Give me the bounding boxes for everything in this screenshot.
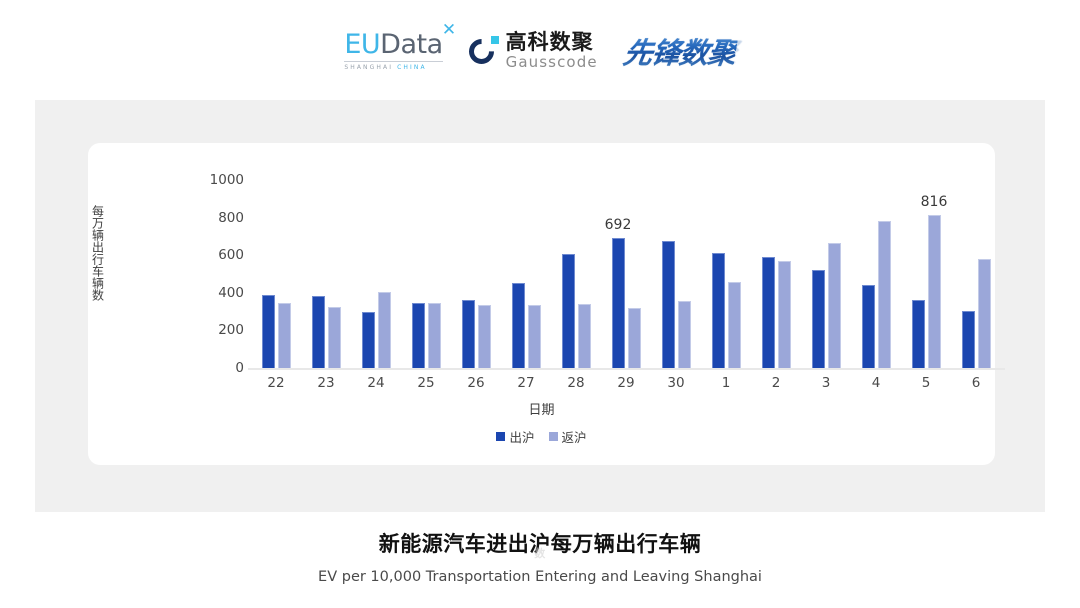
evdata-tagline: SHANGHAI CHINA (344, 61, 442, 71)
plot-area: 692816 (251, 180, 1001, 368)
evdata-logo: EUData✕ SHANGHAI CHINA (344, 31, 442, 71)
bar-value-label: 692 (605, 217, 632, 233)
bar-group (301, 180, 351, 368)
x-tick-label: 3 (801, 375, 851, 391)
slide-root: EUData✕ SHANGHAI CHINA 高科数聚 Gausscode 先锋… (0, 0, 1080, 608)
bar-out (512, 283, 525, 368)
x-tick-label: 25 (401, 375, 451, 391)
bar-group (551, 180, 601, 368)
bar-out (312, 296, 325, 368)
bar-chart: 02004006008001000 692816 222324252627282… (88, 143, 995, 465)
gausscode-logo: 高科数聚 Gausscode (469, 32, 598, 70)
bar-group (451, 180, 501, 368)
bar-out (712, 253, 725, 368)
x-tick-label: 4 (851, 375, 901, 391)
bar-group (651, 180, 701, 368)
bar-group (701, 180, 751, 368)
x-tick-label: 23 (301, 375, 351, 391)
bar-return (428, 303, 441, 368)
bar-out (862, 285, 875, 368)
gausscode-name-en: Gausscode (506, 55, 598, 70)
chart-title-cn: 新能源汽车进出沪每万辆出行车辆 数 (0, 528, 1080, 558)
footer: 新能源汽车进出沪每万辆出行车辆 数 EV per 10,000 Transpor… (0, 528, 1080, 585)
evdata-wordmark: EUData✕ (344, 31, 442, 58)
x-tick-label: 24 (351, 375, 401, 391)
x-tick-label: 29 (601, 375, 651, 391)
bar-return (828, 243, 841, 368)
gausscode-text: 高科数聚 Gausscode (506, 32, 598, 70)
bar-group: 692 (601, 180, 651, 368)
y-tick-label: 800 (198, 210, 244, 226)
y-axis-title: 每万辆出行车辆数 (88, 168, 108, 338)
bar-return (978, 259, 991, 368)
bar-group (501, 180, 551, 368)
bar-out (562, 254, 575, 368)
x-mark-icon: ✕ (442, 22, 456, 39)
bar-group (751, 180, 801, 368)
gausscode-name-cn: 高科数聚 (506, 32, 598, 53)
chart-legend: 出沪返沪 (88, 427, 995, 446)
bar-out: 692 (612, 238, 625, 368)
bar-group (851, 180, 901, 368)
y-tick-label: 1000 (198, 172, 244, 188)
x-tick-label: 30 (651, 375, 701, 391)
bar-group (351, 180, 401, 368)
bar-return (878, 221, 891, 368)
x-tick-label: 5 (901, 375, 951, 391)
bar-out (912, 300, 925, 368)
gausscode-square-icon (491, 36, 499, 44)
legend-item[interactable]: 出沪 (496, 427, 534, 446)
chart-title-cn-text: 新能源汽车进出沪每万辆出行车辆 (379, 533, 702, 556)
xianfeng-name-cn: 先锋数聚 (620, 30, 739, 72)
chart-subtitle-en: EV per 10,000 Transportation Entering an… (0, 569, 1080, 585)
y-tick-label: 200 (198, 322, 244, 338)
bar-out (362, 312, 375, 368)
evdata-word-data: Data (380, 29, 442, 60)
x-tick-label: 27 (501, 375, 551, 391)
evdata-letter-v: U (361, 29, 380, 60)
bar-return (328, 307, 341, 368)
bar-return (778, 261, 791, 368)
x-tick-label: 1 (701, 375, 751, 391)
x-tick-label: 2 (751, 375, 801, 391)
bar-group (951, 180, 1001, 368)
bar-out (462, 300, 475, 368)
logo-row: EUData✕ SHANGHAI CHINA 高科数聚 Gausscode 先锋… (0, 22, 1080, 80)
bar-group (251, 180, 301, 368)
x-tick-label: 22 (251, 375, 301, 391)
bar-return (378, 292, 391, 368)
x-tick-label: 28 (551, 375, 601, 391)
bar-return (678, 301, 691, 368)
bar-return (728, 282, 741, 368)
bar-group: 816 (901, 180, 951, 368)
bar-return (278, 303, 291, 368)
bar-out (412, 303, 425, 368)
x-tick-label: 26 (451, 375, 501, 391)
bar-out (812, 270, 825, 368)
bar-group (801, 180, 851, 368)
bar-out (262, 295, 275, 368)
y-tick-label: 0 (198, 360, 244, 376)
xianfeng-logo: 先锋数聚 (624, 30, 736, 72)
bar-return (628, 308, 641, 368)
x-axis-line (248, 368, 1005, 370)
y-tick-label: 400 (198, 285, 244, 301)
gausscode-mark-icon (469, 36, 499, 66)
bar-out (762, 257, 775, 368)
bar-return (578, 304, 591, 368)
x-tick-label: 6 (951, 375, 1001, 391)
bar-out (962, 311, 975, 368)
legend-swatch-icon (549, 432, 558, 441)
legend-label: 返沪 (562, 427, 587, 446)
bar-value-label: 816 (921, 194, 948, 210)
bar-return: 816 (928, 215, 941, 368)
bar-out (662, 241, 675, 368)
bar-return (528, 305, 541, 368)
bar-group (401, 180, 451, 368)
y-tick-label: 600 (198, 247, 244, 263)
legend-item[interactable]: 返沪 (549, 427, 587, 446)
evdata-letter-e: E (344, 29, 361, 60)
bar-return (478, 305, 491, 368)
legend-swatch-icon (496, 432, 505, 441)
evdata-tagline-shanghai: SHANGHAI (344, 64, 393, 71)
evdata-tagline-china: CHINA (397, 64, 427, 71)
legend-label: 出沪 (509, 427, 534, 446)
x-axis-title: 日期 (88, 399, 995, 418)
